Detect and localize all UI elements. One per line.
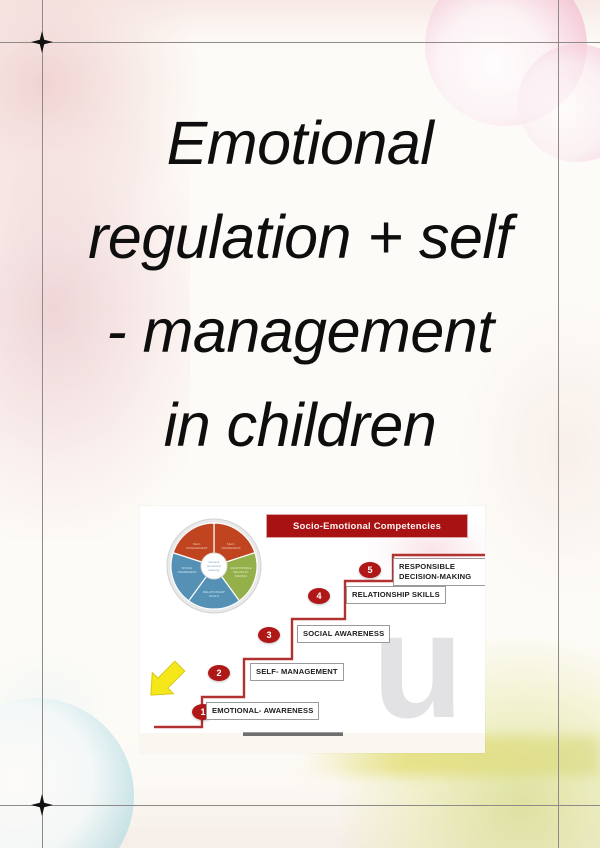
step-label-1: EMOTIONAL- AWARENESS xyxy=(206,702,319,720)
top-color-wash xyxy=(0,0,600,46)
crop-rule-left-vertical xyxy=(42,0,43,848)
step-label-5: RESPONSIBLE DECISION-MAKING xyxy=(393,558,485,586)
diagram-bottom-tint xyxy=(140,733,485,753)
corner-diamond-top-left xyxy=(31,31,53,53)
step-label-4: RELATIONSHIP SKILLS xyxy=(346,586,446,604)
step-badge-4: 4 xyxy=(308,588,330,604)
crop-rule-bottom-horizontal xyxy=(0,805,600,806)
step-label-3: SOCIAL AWARENESS xyxy=(297,625,390,643)
title-line-3: - management xyxy=(60,284,540,378)
embedded-diagram-image: u Socio-Emotional Competencies xyxy=(140,506,485,753)
title-line-4: in children xyxy=(60,378,540,472)
step-badge-2: 2 xyxy=(208,665,230,681)
teal-bubble-halo xyxy=(0,640,120,790)
corner-diamond-bottom-left xyxy=(31,794,53,816)
page-title: Emotional regulation + self - management… xyxy=(60,96,540,472)
yellow-arrow-icon xyxy=(142,658,188,704)
teal-bubble xyxy=(0,698,134,848)
crop-rule-right-vertical xyxy=(558,0,559,848)
diagram-baseline-bar xyxy=(243,732,343,736)
step-badge-3: 3 xyxy=(258,627,280,643)
crop-rule-top-horizontal xyxy=(0,42,600,43)
title-line-2: regulation + self xyxy=(60,190,540,284)
title-line-1: Emotional xyxy=(60,96,540,190)
document-page: Emotional regulation + self - management… xyxy=(0,0,600,848)
step-label-2: SELF- MANAGEMENT xyxy=(250,663,344,681)
step-badge-5: 5 xyxy=(359,562,381,578)
